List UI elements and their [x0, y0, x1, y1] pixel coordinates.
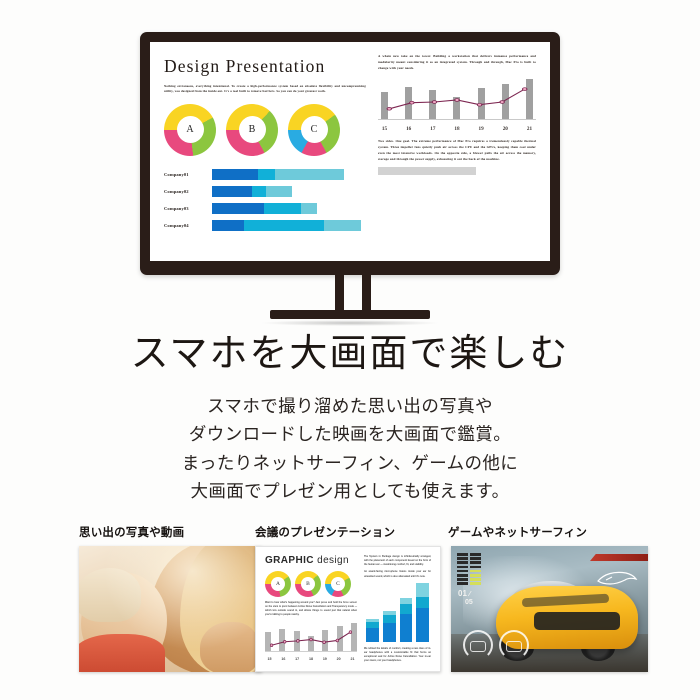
slide2-tick-label: 16 — [279, 657, 288, 661]
tv-illustration: Design Presentation Nothing extraneous, … — [140, 32, 560, 312]
chart-tick-label: 20 — [500, 126, 511, 132]
donut-label-a: A — [164, 104, 216, 156]
panel-presentation-image: GRAPHIC design A B C — [255, 546, 441, 672]
panel-presentation: 会議のプレゼンテーション GRAPHIC design A — [255, 524, 441, 672]
hud-meter-cell — [470, 570, 481, 573]
presentation-slide: Design Presentation Nothing extraneous, … — [150, 42, 550, 261]
stacked-column — [400, 598, 413, 642]
stacked-segment — [400, 614, 413, 641]
donut-chart-group: A B C — [164, 104, 366, 156]
bar-segment — [301, 203, 316, 214]
slide2-right-paragraph-mid: An award-facing microphone listens insid… — [364, 570, 431, 578]
bar-chart-row: Company03 — [164, 203, 366, 214]
bar-segment — [252, 186, 266, 197]
stacked-column — [416, 583, 429, 641]
body-copy-line: スマホで撮り溜めた思い出の写真や — [0, 392, 700, 420]
bar-chart-track — [212, 220, 366, 231]
slide2-left-column: GRAPHIC design A B C — [265, 555, 357, 663]
stacked-segment — [383, 615, 396, 622]
slide2-title-design: design — [317, 555, 349, 566]
chart-tick-label: 19 — [476, 126, 487, 132]
bar-segment — [244, 220, 324, 231]
stacked-segment — [366, 628, 379, 642]
donut-chart-c: C — [288, 104, 340, 156]
donut-chart-a: A — [164, 104, 216, 156]
game-lap-counter: 01 ⁄ 05 — [458, 590, 473, 606]
page-headline: スマホを大画面で楽しむ — [0, 322, 700, 377]
slide-left-column: Design Presentation Nothing extraneous, … — [164, 54, 366, 249]
panel-gaming-image: 01 ⁄ 05 — [451, 546, 648, 672]
bar-chart-label: Company02 — [164, 189, 212, 194]
column-tick-labels: 15161718192021 — [378, 126, 536, 132]
panel-gaming: ゲームやネットサーフィン — [451, 524, 637, 672]
stacked-segment — [400, 604, 413, 615]
slide2-donut-c: C — [325, 571, 351, 597]
game-gauge-right-inner — [506, 641, 522, 652]
stacked-column — [366, 619, 379, 642]
panel-photos: 思い出の写真や動画 — [79, 524, 265, 672]
slide-left-paragraph: Nothing extraneous, everything intention… — [164, 84, 366, 95]
tv-stand-right-leg — [362, 275, 371, 312]
body-copy-line: ダウンロードした映画を大画面で鑑賞。 — [0, 420, 700, 448]
slide2-right-column: The System in Package design is infinite… — [364, 555, 431, 663]
game-gauge-left — [463, 630, 493, 660]
slide-right-column: A whole new take on the tower. Building … — [378, 54, 536, 249]
slide2-donut-label-a: A — [265, 571, 291, 597]
bar-chart-row: Company01 — [164, 169, 366, 180]
feature-panels: 思い出の写真や動画 会議のプレゼンテーション — [0, 524, 700, 700]
bar-segment — [324, 220, 361, 231]
chart-tick-label: 18 — [451, 126, 462, 132]
bar-chart-row: Company04 — [164, 220, 366, 231]
hud-meter-cell — [457, 574, 468, 577]
stacked-segment — [416, 583, 429, 597]
bar-chart-track — [212, 186, 366, 197]
game-lap-current: 01 — [458, 589, 467, 598]
slide2-right-paragraph-bottom: We refined the details of comfort, creat… — [364, 647, 431, 664]
stacked-segment — [416, 597, 429, 608]
stacked-column — [383, 611, 396, 642]
hud-meter-cell — [457, 561, 468, 564]
chart-tick-label: 15 — [379, 126, 390, 132]
panel-gaming-title: ゲームやネットサーフィン — [448, 524, 637, 540]
poster-page: Design Presentation Nothing extraneous, … — [0, 0, 700, 700]
stacked-segment — [416, 608, 429, 641]
hud-meter-column — [457, 553, 468, 585]
hud-meter-cell — [470, 553, 481, 556]
game-car-window — [534, 612, 621, 631]
bar-segment — [258, 169, 275, 180]
panel-presentation-title: 会議のプレゼンテーション — [255, 524, 441, 540]
body-copy-line: 大画面でプレゼン用としても使えます。 — [0, 477, 700, 505]
chart-tick-label: 16 — [403, 126, 414, 132]
horizontal-bar-chart: Company01Company02Company03Company04 — [164, 169, 366, 231]
page-body-copy: スマホで撮り溜めた思い出の写真やダウンロードした映画を大画面で鑑賞。まったりネッ… — [0, 392, 700, 505]
slide2-tick-label: 20 — [334, 657, 343, 661]
slide2-title: GRAPHIC design — [265, 555, 357, 566]
chart-tick-label: 21 — [524, 126, 535, 132]
hud-meter-cell — [457, 553, 468, 556]
slide2-donut-label-b: B — [295, 571, 321, 597]
tv-bezel: Design Presentation Nothing extraneous, … — [140, 32, 560, 275]
slide2-tick-label: 21 — [348, 657, 357, 661]
tv-screen: Design Presentation Nothing extraneous, … — [150, 42, 550, 261]
hud-meter-cell — [470, 582, 481, 585]
bar-segment — [264, 203, 301, 214]
hud-meter-cell — [457, 578, 468, 581]
game-gauge-left-inner — [470, 641, 486, 652]
game-lap-slash: ⁄ — [469, 591, 470, 598]
slide2-tick-label: 18 — [306, 657, 315, 661]
donut-label-c: C — [288, 104, 340, 156]
hud-meter-cell — [470, 574, 481, 577]
tv-stand-left-leg — [335, 275, 344, 312]
graphic-design-slide: GRAPHIC design A B C — [256, 547, 440, 671]
slide2-tick-label: 15 — [265, 657, 274, 661]
hud-meter-cell — [457, 582, 468, 585]
slide2-trend-line — [265, 623, 357, 657]
panel-photos-title: 思い出の写真や動画 — [79, 524, 265, 540]
bar-chart-track — [212, 169, 366, 180]
hud-meter-cell — [457, 557, 468, 560]
game-screenshot: 01 ⁄ 05 — [451, 546, 648, 672]
bar-segment — [212, 169, 258, 180]
hud-meter-cell — [457, 566, 468, 569]
slide2-tick-label: 17 — [293, 657, 302, 661]
hud-meter-cell — [470, 557, 481, 560]
bar-chart-row: Company02 — [164, 186, 366, 197]
game-lap-total: 05 — [465, 599, 473, 606]
hud-meter-cell — [457, 570, 468, 573]
photo-backlight-glow — [79, 546, 262, 672]
stacked-segment — [383, 623, 396, 642]
hud-meter-cell — [470, 566, 481, 569]
slide-right-paragraph-bottom: Two sides. One goal. The extreme perform… — [378, 139, 536, 163]
bar-segment — [275, 169, 344, 180]
family-photo — [79, 546, 262, 672]
slide-right-paragraph-top: A whole new take on the tower. Building … — [378, 54, 536, 72]
body-copy-line: まったりネットサーフィン、ゲームの他に — [0, 449, 700, 477]
game-bird-logo — [594, 568, 638, 590]
slide-title: Design Presentation — [164, 56, 366, 77]
slide2-right-paragraph-top: The System in Package design is infinite… — [364, 555, 431, 567]
donut-chart-b: B — [226, 104, 278, 156]
game-power-meter — [457, 553, 481, 585]
slide2-tick-label: 19 — [320, 657, 329, 661]
bar-chart-label: Company01 — [164, 172, 212, 177]
slide2-stacked-chart — [364, 579, 431, 644]
hud-meter-column — [470, 553, 481, 585]
slide2-donut-label-c: C — [325, 571, 351, 597]
bar-segment — [212, 203, 264, 214]
column-line-chart: 15161718192021 — [378, 79, 536, 125]
chart-tick-label: 17 — [427, 126, 438, 132]
slide2-column-chart: 15161718192021 — [265, 623, 357, 657]
panel-photos-image — [79, 546, 262, 672]
slide2-donut-group: A B C — [265, 571, 357, 597]
hud-meter-cell — [470, 578, 481, 581]
game-gauge-right — [499, 630, 529, 660]
slide2-title-graphic: GRAPHIC — [265, 555, 314, 566]
hud-meter-cell — [470, 561, 481, 564]
trend-line — [378, 79, 536, 125]
bar-chart-label: Company03 — [164, 206, 212, 211]
donut-label-b: B — [226, 104, 278, 156]
tv-stand-base — [270, 310, 430, 319]
slide2-left-paragraph: Want to hear what's happening around you… — [265, 601, 357, 618]
slide2-donut-a: A — [265, 571, 291, 597]
bar-chart-label: Company04 — [164, 223, 212, 228]
bar-segment — [266, 186, 292, 197]
game-banner — [590, 554, 648, 561]
slide2-donut-b: B — [295, 571, 321, 597]
bar-segment — [212, 186, 252, 197]
bar-segment — [212, 220, 244, 231]
slide2-tick-labels: 15161718192021 — [265, 657, 357, 661]
placeholder-bar — [378, 167, 476, 175]
bar-chart-track — [212, 203, 366, 214]
